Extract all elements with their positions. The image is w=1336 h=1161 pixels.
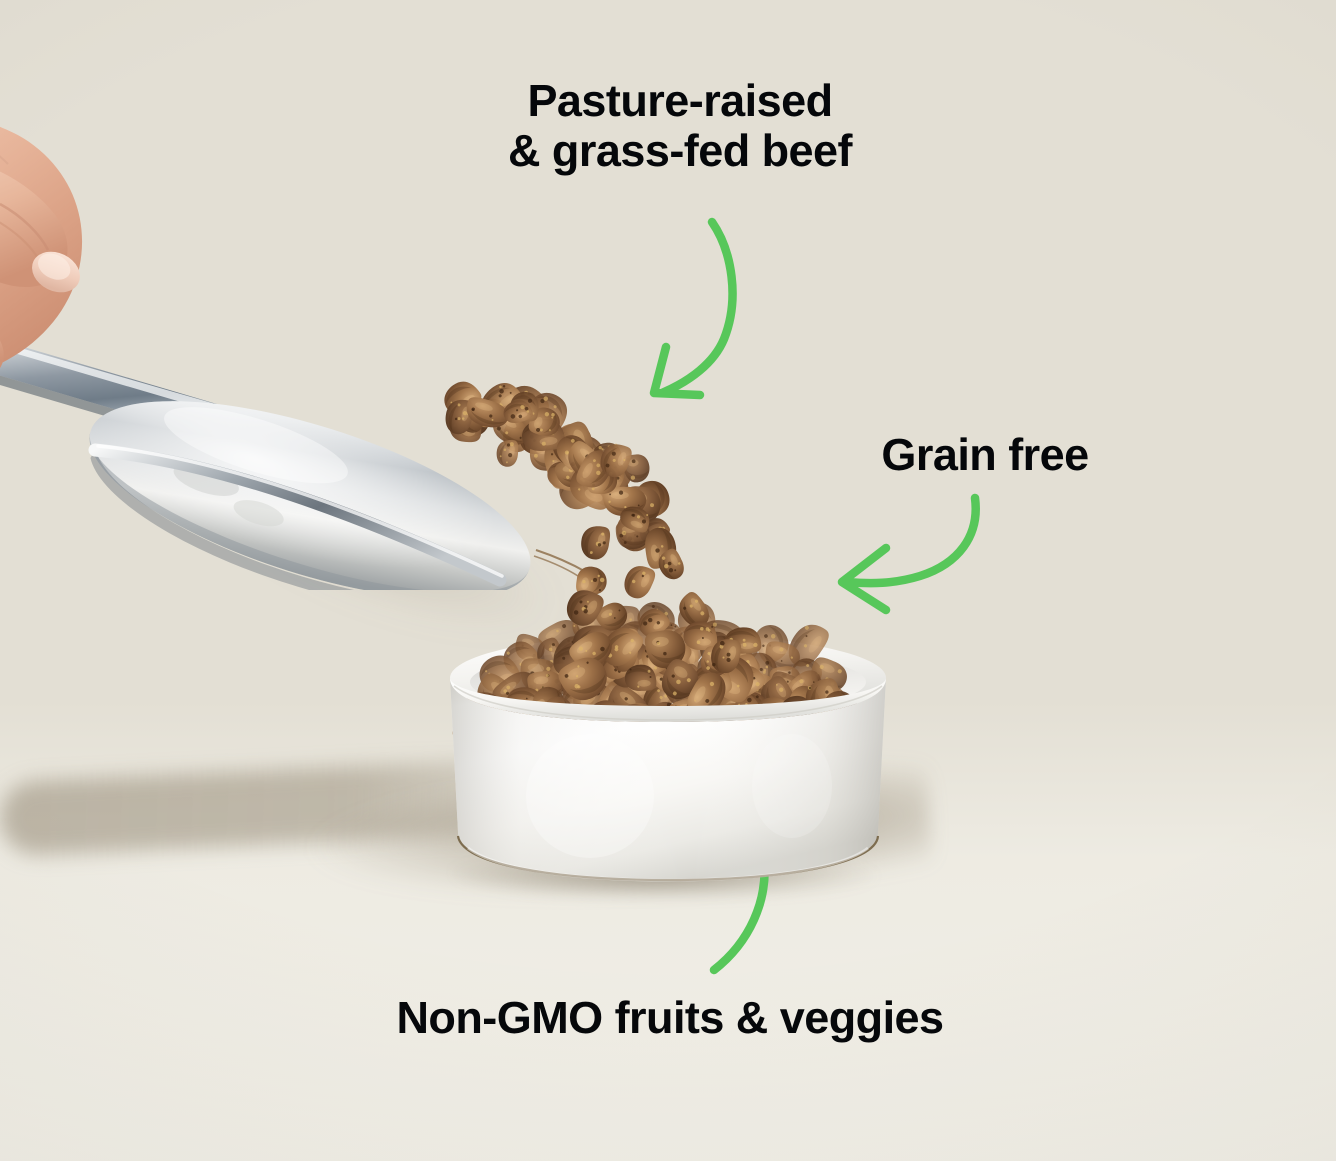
dog-kibble bbox=[0, 0, 1336, 1161]
white-ceramic-bowl bbox=[440, 636, 910, 896]
product-photo-scene: Pasture-raised & grass-fed beef Grain fr… bbox=[0, 0, 1336, 1161]
